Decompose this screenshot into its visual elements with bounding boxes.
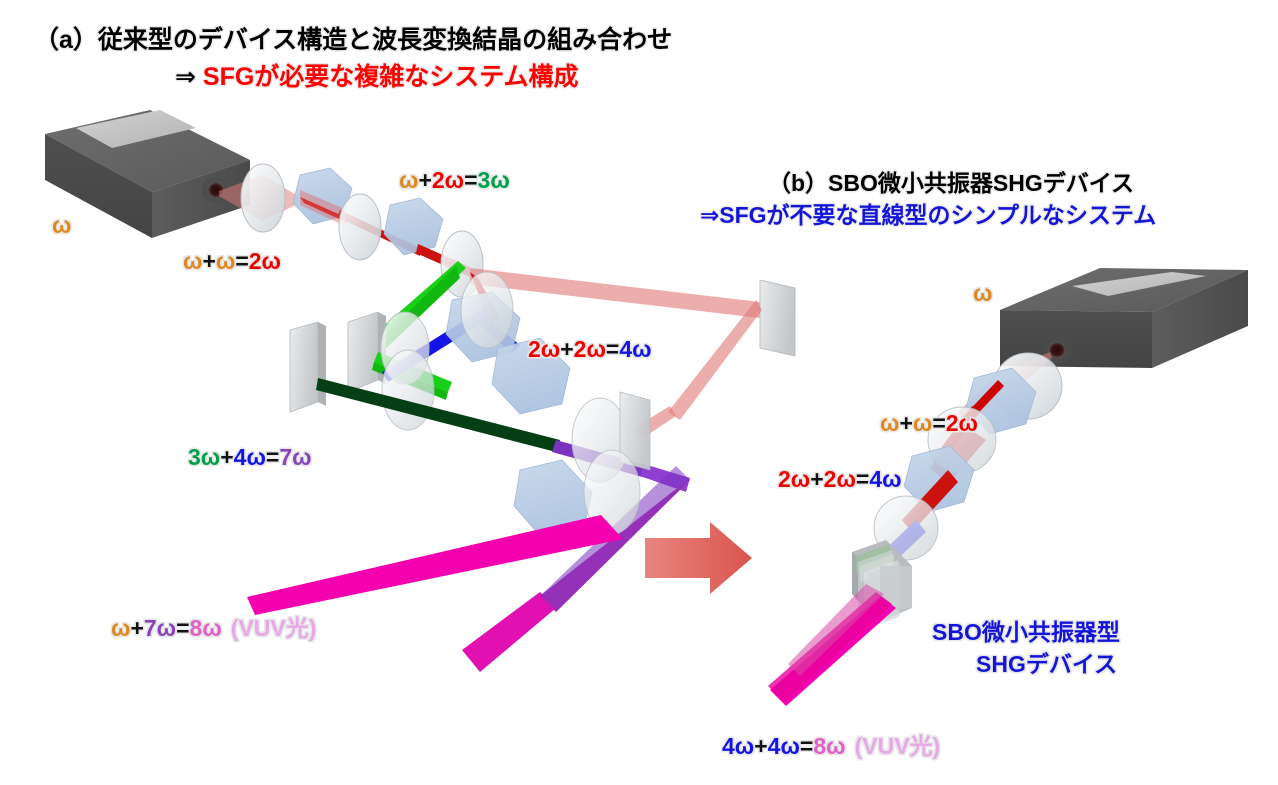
panel-a-title-line2: ⇒ SFGが必要な複雑なシステム構成 xyxy=(175,57,579,93)
label-a-shg-2w: ω+ω=2ω xyxy=(183,248,281,275)
label-b-device-name-line2: SHGデバイス xyxy=(976,645,1117,679)
panel-a-optics xyxy=(45,110,795,672)
label-a-pump-omega-text: ω xyxy=(52,212,71,238)
figure-canvas: （a）従来型のデバイス構造と波長変換結晶の組み合わせ ⇒ SFGが必要な複雑なシ… xyxy=(0,0,1278,785)
label-a-sfg-7w: 3ω+4ω=7ω xyxy=(188,444,312,471)
panel-b-title-line2-text: SFGが不要な直線型のシンプルなシステム xyxy=(719,202,1156,228)
panel-b-arrow-glyph: ⇒ xyxy=(700,202,719,228)
label-b-device-name-line1: SBO微小共振器型 xyxy=(932,613,1120,647)
mirror-a-right xyxy=(760,280,795,356)
label-b-shg-2w: ω+ω=2ω xyxy=(880,410,978,437)
label-a-shg-4w: 2ω+2ω=4ω xyxy=(528,336,652,363)
transition-arrow-icon xyxy=(645,522,752,594)
mirror-a-left-lower xyxy=(290,322,326,412)
crystal-a2 xyxy=(384,198,443,255)
laser-source-a xyxy=(45,110,250,238)
label-b-shg-4w: 2ω+2ω=4ω xyxy=(778,466,902,493)
panel-a-title-line2-text: SFGが必要な複雑なシステム構成 xyxy=(203,63,579,91)
panel-a-arrow-glyph: ⇒ xyxy=(175,63,196,91)
lens-a5 xyxy=(461,272,513,348)
lens-a1 xyxy=(241,164,285,232)
label-a-sfg-8w: ω+7ω=8ω(VUV光) xyxy=(111,609,316,643)
label-b-shg-8w: 4ω+4ω=8ω(VUV光) xyxy=(722,727,940,761)
label-a-pump-omega: ω xyxy=(52,212,71,239)
panel-b-title-line2: ⇒SFGが不要な直線型のシンプルなシステム xyxy=(700,196,1156,230)
laser-source-b xyxy=(1000,268,1248,368)
label-a-sfg-3w: ω+2ω=3ω xyxy=(399,167,510,194)
label-b-pump-omega: ω xyxy=(973,280,992,307)
lens-a2 xyxy=(339,194,381,260)
mirror-a-left-upper xyxy=(348,312,386,392)
panel-a-title-line1: （a）従来型のデバイス構造と波長変換結晶の組み合わせ xyxy=(34,20,672,56)
label-b-pump-omega-text: ω xyxy=(973,280,992,306)
panel-b-title-line1: （b）SBO微小共振器SHGデバイス xyxy=(768,164,1134,198)
